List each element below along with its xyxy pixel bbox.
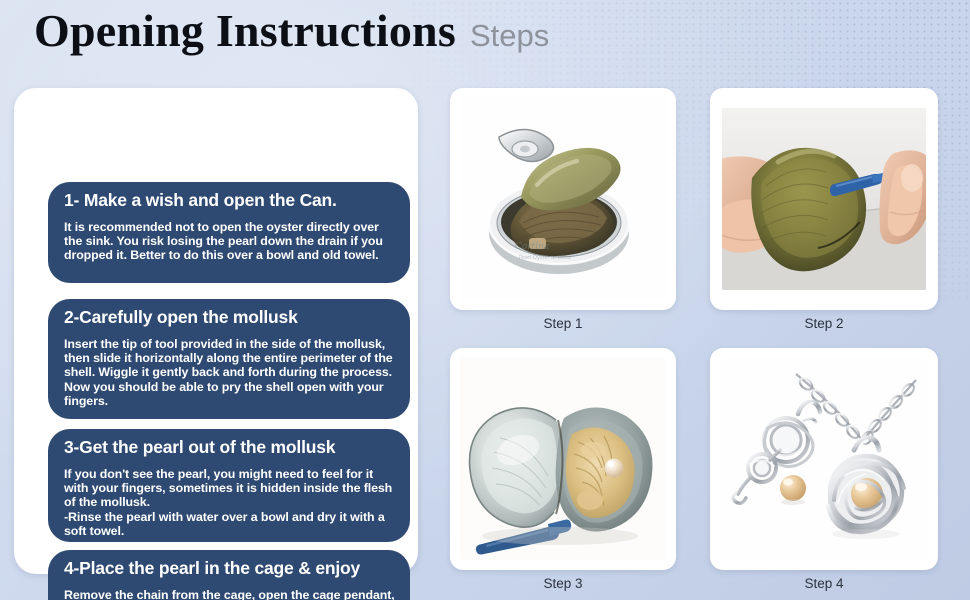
svg-text:Pearl Oyster in Water: Pearl Oyster in Water	[519, 255, 573, 261]
svg-text:Cortina: Cortina	[515, 242, 549, 252]
photo-cell-step-4: Step 4	[710, 348, 938, 591]
step-item-2: 2-Carefully open the mollusk Insert the …	[48, 299, 410, 419]
tin-can-photo: Cortina Pearl Oyster in Water	[459, 97, 667, 301]
page-title: Opening Instructions	[34, 8, 456, 54]
steps-list: 1- Make a wish and open the Can. It is r…	[14, 88, 418, 574]
step-2-heading: 2-Carefully open the mollusk	[64, 308, 396, 328]
photo-caption-step-4: Step 4	[710, 576, 938, 591]
page-subtitle: Steps	[470, 20, 549, 51]
photo-card-step-4	[710, 348, 938, 570]
photo-card-step-2	[710, 88, 938, 310]
photo-cell-step-1: Cortina Pearl Oyster in Water Step 1	[450, 88, 676, 331]
photo-card-step-3	[450, 348, 676, 570]
hands-opening-mussel-photo	[722, 108, 926, 290]
photo-cell-step-3: Step 3	[450, 348, 676, 591]
step-item-4: 4-Place the pearl in the cage & enjoy Re…	[48, 550, 410, 600]
step-2-body: Insert the tip of tool provided in the s…	[64, 337, 396, 409]
step-1-body: It is recommended not to open the oyster…	[64, 220, 396, 263]
photo-cell-step-2: Step 2	[710, 88, 938, 331]
photo-caption-step-1: Step 1	[450, 316, 676, 331]
opened-shell-photo	[460, 358, 666, 560]
step-item-1: 1- Make a wish and open the Can. It is r…	[48, 182, 410, 283]
instructions-page: Opening Instructions Steps 1- Make a wis…	[0, 0, 970, 600]
photo-caption-step-2: Step 2	[710, 316, 938, 331]
step-3-body: If you don't see the pearl, you might ne…	[64, 467, 396, 539]
step-3-heading: 3-Get the pearl out of the mollusk	[64, 438, 396, 458]
photo-card-step-1: Cortina Pearl Oyster in Water	[450, 88, 676, 310]
step-1-heading: 1- Make a wish and open the Can.	[64, 191, 396, 211]
cage-pendant-necklace-photo	[720, 358, 928, 560]
step-4-body: Remove the chain from the cage, open the…	[64, 588, 396, 600]
page-header: Opening Instructions Steps	[34, 8, 549, 54]
photo-caption-step-3: Step 3	[450, 576, 676, 591]
step-4-heading: 4-Place the pearl in the cage & enjoy	[64, 559, 396, 579]
step-item-3: 3-Get the pearl out of the mollusk If yo…	[48, 429, 410, 542]
